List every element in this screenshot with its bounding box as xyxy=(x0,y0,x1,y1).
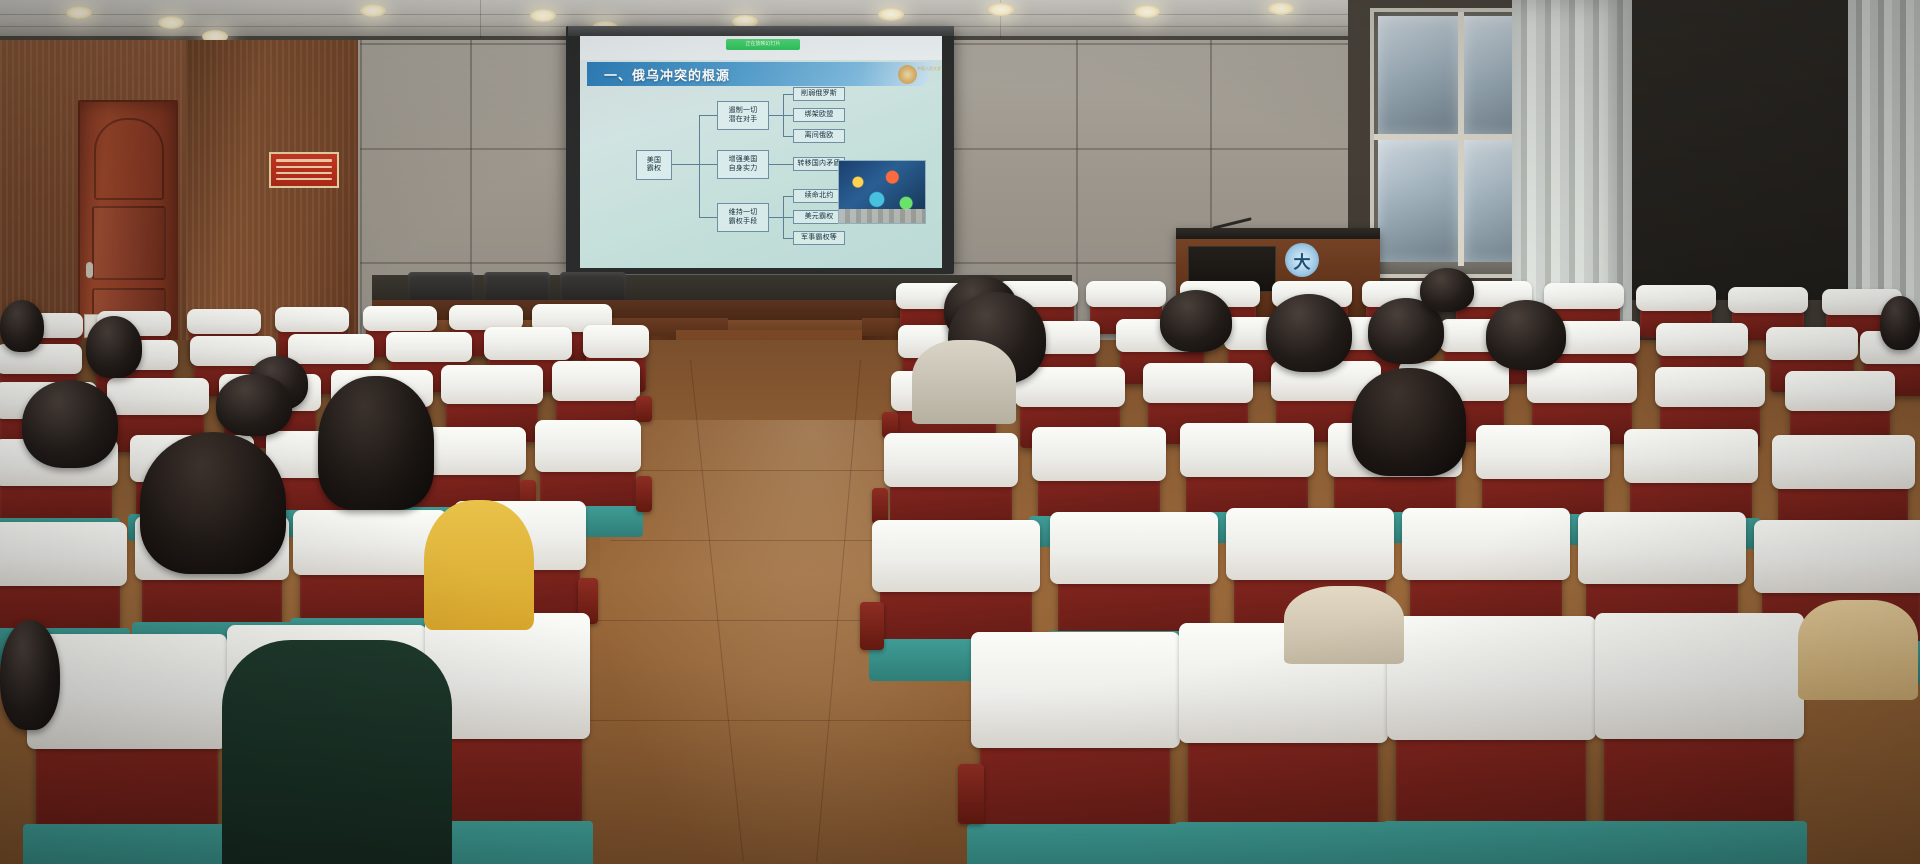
auditorium-seat[interactable] xyxy=(980,664,1170,864)
student-shoulders xyxy=(222,640,452,864)
mindmap-root-node: 美国 霸权 xyxy=(636,150,672,180)
mindmap-branch-node: 维持一切 霸权手段 xyxy=(717,203,769,232)
mindmap-connector xyxy=(769,164,793,165)
ceiling-downlight xyxy=(1134,5,1160,18)
door-lower-panel xyxy=(92,206,166,280)
slide-mindmap: 美国 霸权 遏制一切 潜在对手 增强美国 自身实力 维持一切 霸权手段 削弱俄罗… xyxy=(580,88,942,268)
mindmap-connector xyxy=(672,164,700,165)
student-head xyxy=(140,432,286,574)
presentation-slide: 正在放映幻灯片 一、俄乌冲突的根源 中国人民大学 美国 霸权 遏制一切 潜在对手… xyxy=(580,36,942,268)
ceiling-downlight xyxy=(1268,2,1294,15)
slide-title: 一、俄乌冲突的根源 xyxy=(604,65,730,84)
auditorium-seat[interactable] xyxy=(300,528,440,640)
student-head xyxy=(1880,296,1920,350)
mindmap-connector xyxy=(769,217,783,218)
projection-screen-roller xyxy=(568,26,954,36)
ceiling-downlight xyxy=(878,8,904,21)
auditorium-seat[interactable] xyxy=(1396,650,1586,864)
door-handle-icon[interactable] xyxy=(86,262,93,278)
student-head xyxy=(1266,294,1352,372)
student-head xyxy=(318,376,434,510)
student-shoulders xyxy=(1284,586,1404,664)
student-head xyxy=(1420,268,1474,312)
wall-panel-seam xyxy=(360,40,362,370)
student-shoulders xyxy=(424,500,534,630)
lecture-hall-photo: 正在放映幻灯片 一、俄乌冲突的根源 中国人民大学 美国 霸权 遏制一切 潜在对手… xyxy=(0,0,1920,864)
slideshow-status-text: 正在放映幻灯片 xyxy=(730,40,796,49)
ceiling-downlight xyxy=(988,3,1014,16)
ceiling-seam xyxy=(480,0,481,38)
student-shoulders xyxy=(1798,600,1918,700)
mindmap-connector xyxy=(783,196,793,197)
student-head xyxy=(216,374,292,436)
notice-board xyxy=(269,152,339,188)
floor-seam xyxy=(545,720,1035,721)
student-head xyxy=(0,300,44,352)
student-head xyxy=(86,316,142,378)
auditorium-seat[interactable] xyxy=(1188,656,1378,864)
ceiling-downlight xyxy=(66,6,92,19)
door-arch-panel xyxy=(94,118,164,200)
mindmap-connector xyxy=(699,115,700,217)
university-logo-label: 中国人民大学 xyxy=(917,66,941,71)
mindmap-connector xyxy=(783,238,793,239)
mindmap-connector xyxy=(783,94,793,95)
auditorium-seat[interactable] xyxy=(432,648,582,864)
mindmap-leaf-node: 绑架欧盟 xyxy=(793,108,845,122)
auditorium-seat[interactable] xyxy=(36,666,218,864)
mindmap-connector xyxy=(769,115,783,116)
student-head xyxy=(1160,290,1232,352)
student-head xyxy=(1486,300,1566,370)
student-head xyxy=(22,380,118,468)
auditorium-seat[interactable] xyxy=(1604,648,1794,864)
ceiling-downlight xyxy=(158,16,184,29)
lectern-top xyxy=(1176,228,1380,239)
mindmap-connector xyxy=(699,164,717,165)
ceiling-downlight xyxy=(530,9,556,22)
student-head xyxy=(0,620,60,730)
mindmap-connector xyxy=(783,115,793,116)
mindmap-leaf-node: 削弱俄罗斯 xyxy=(793,87,845,101)
mindmap-leaf-node: 离间俄欧 xyxy=(793,129,845,143)
student-shoulders xyxy=(912,340,1016,424)
mindmap-connector xyxy=(783,136,793,137)
ceiling-downlight xyxy=(360,4,386,17)
mindmap-leaf-node: 军事霸权等 xyxy=(793,231,845,245)
mindmap-connector xyxy=(699,115,717,116)
university-logo-icon: 中国人民大学 xyxy=(898,64,936,84)
lectern-emblem-icon: 大 xyxy=(1285,243,1319,277)
slide-illustration-image xyxy=(838,160,926,224)
wall-panel-seam xyxy=(1210,40,1212,235)
mindmap-connector xyxy=(699,217,717,218)
mindmap-branch-node: 遏制一切 潜在对手 xyxy=(717,101,769,130)
mindmap-connector xyxy=(783,217,793,218)
student-head xyxy=(1352,368,1466,476)
mindmap-branch-node: 增强美国 自身实力 xyxy=(717,150,769,179)
